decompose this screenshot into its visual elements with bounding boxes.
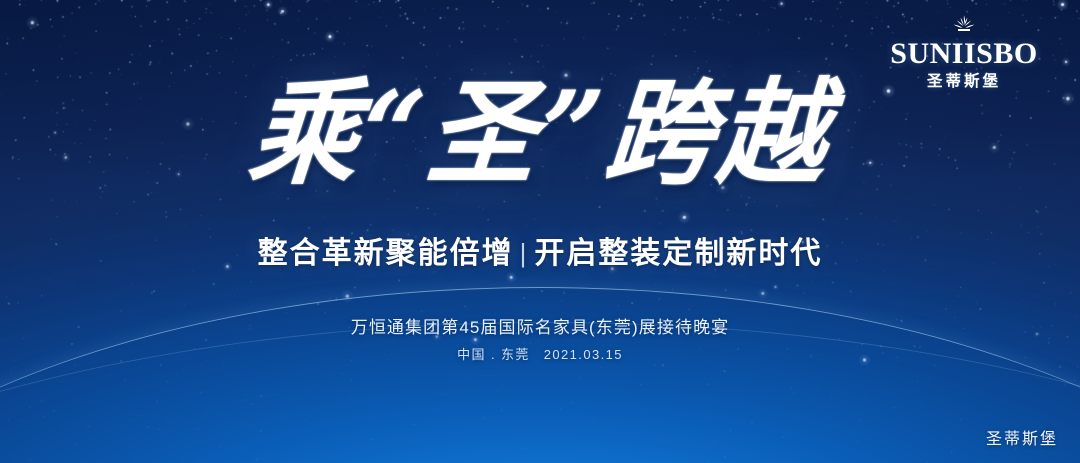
brand-logo[interactable]: SUNIISBO 圣蒂斯堡 [876,14,1052,90]
event-date: 2021.03.15 [544,347,623,362]
event-location: 中国 . 东莞 [457,347,530,362]
watermark-text: 圣蒂斯堡 [986,425,1058,449]
event-description: 万恒通集团第45届国际名家具(东莞)展接待晚宴 [0,313,1080,338]
logo-chinese-name: 圣蒂斯堡 [876,74,1052,90]
logo-wordmark: SUNIISBO [876,39,1052,69]
event-meta: 中国 . 东莞2021.03.15 [0,344,1080,363]
subtitle: 整合革新聚能倍增|开启整装定制新时代 [0,228,1080,272]
promo-banner: SUNIISBO 圣蒂斯堡 乘“圣”跨越 整合革新聚能倍增|开启整装定制新时代 … [0,0,1080,463]
subtitle-separator: | [520,238,529,269]
subtitle-left: 整合革新聚能倍增 [258,237,514,270]
subtitle-right: 开启整装定制新时代 [534,237,822,270]
